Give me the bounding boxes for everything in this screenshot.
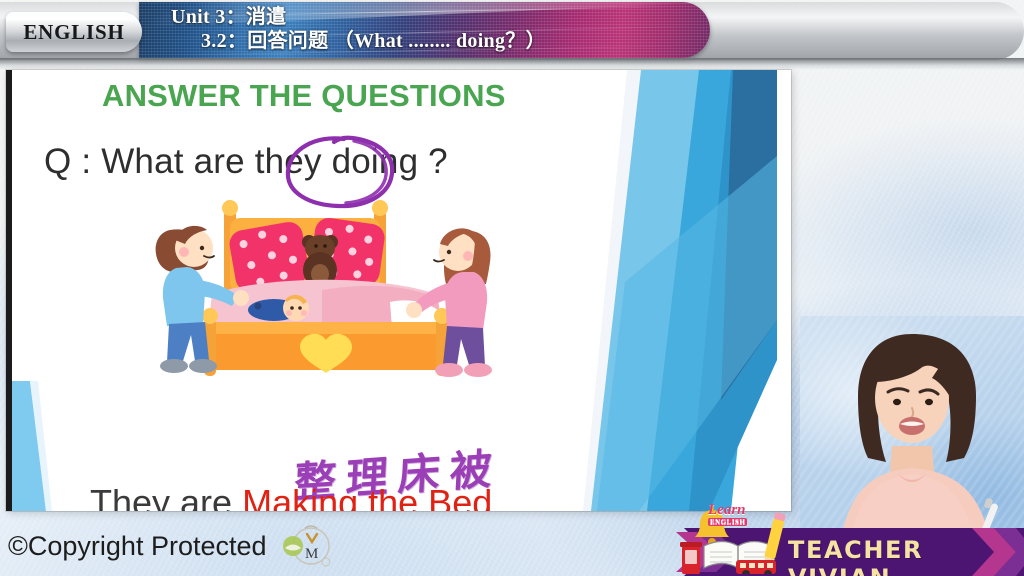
teacher-name-banner: Learn ENGLISH TEACHER VIVIAN [676, 528, 1024, 576]
logo-main-text: Learn [708, 502, 746, 518]
teacher-name-label: TEACHER VIVIAN [788, 536, 1024, 576]
slide-heading: ANSWER THE QUESTIONS [102, 78, 506, 114]
slide-left-wedge [12, 381, 52, 511]
unit-title: Unit 3：消遣 [165, 5, 710, 29]
question-text: Q : What are they doing ? [44, 142, 448, 182]
copyright-text: ©Copyright Protected [8, 531, 267, 562]
slide-canvas[interactable]: ANSWER THE QUESTIONS Q : What are they d… [6, 70, 791, 511]
header-drop-shadow [0, 58, 1024, 70]
answer-highlight: Making the Bed [242, 482, 492, 511]
lesson-header-bar: Unit 3：消遣 3.2：回答问题 （What ........ doing？… [0, 0, 1024, 68]
bed-making-illustration [146, 190, 506, 380]
answer-sentence: They are Making the Bed. [90, 482, 502, 511]
slide-geometric-decoration [581, 70, 791, 511]
subject-badge: ENGLISH [6, 12, 142, 52]
copyright-notice: ©Copyright Protected M [8, 524, 333, 568]
lesson-title: 3.2：回答问题 （What ........ doing？） [165, 29, 710, 54]
answer-suffix: . [492, 482, 502, 511]
presentation-screen: Unit 3：消遣 3.2：回答问题 （What ........ doing？… [0, 0, 1024, 576]
answer-prefix: They are [90, 482, 242, 511]
learn-english-wordmark: Learn ENGLISH [708, 502, 747, 526]
svg-text:M: M [305, 546, 318, 562]
logo-sub-text: ENGLISH [708, 518, 747, 526]
subject-badge-label: ENGLISH [23, 20, 124, 45]
ym-logo-icon: M [277, 524, 333, 568]
lesson-title-banner: Unit 3：消遣 3.2：回答问题 （What ........ doing？… [139, 2, 710, 58]
